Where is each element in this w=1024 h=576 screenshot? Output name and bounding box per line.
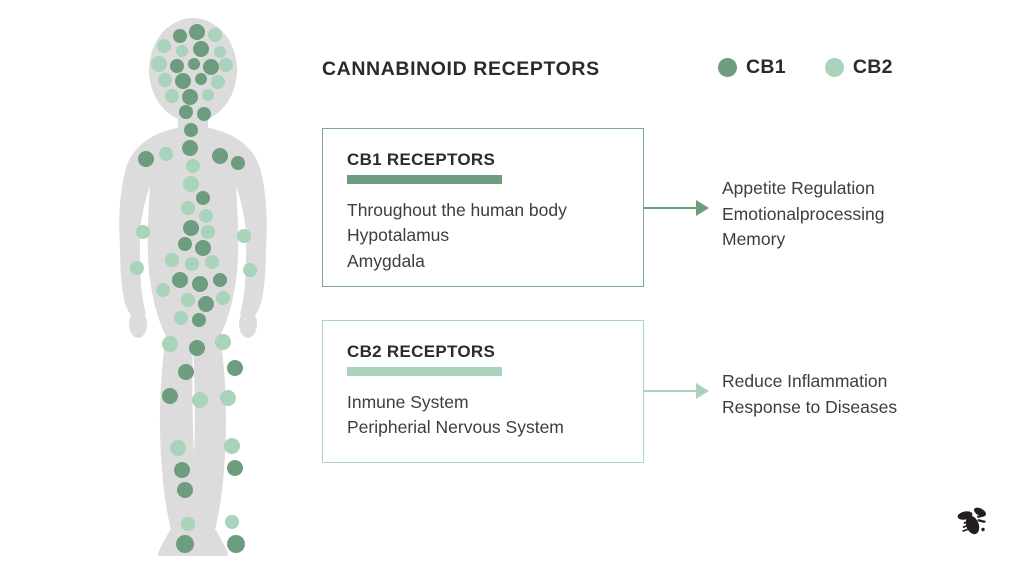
receptor-dot-cb1 (182, 140, 198, 156)
receptor-dot-cb1 (195, 240, 211, 256)
receptor-dot-cb2 (216, 291, 230, 305)
receptor-dot-cb2 (170, 440, 186, 456)
receptor-dot-cb1 (177, 482, 193, 498)
receptor-dot-cb1 (178, 237, 192, 251)
receptor-dot-cb2 (158, 73, 172, 87)
card-cb2-heading: CB2 RECEPTORS (347, 342, 643, 362)
receptor-dot-cb2 (185, 257, 199, 271)
receptor-dot-cb1 (195, 73, 207, 85)
receptor-dot-cb2 (181, 201, 195, 215)
receptor-dot-cb1 (198, 296, 214, 312)
receptor-dot-cb2 (192, 392, 208, 408)
receptor-dot-cb2 (165, 89, 179, 103)
arrow-head-icon (696, 200, 709, 216)
receptor-dot-cb2 (205, 255, 219, 269)
card-cb2-underline (347, 367, 502, 376)
receptor-dot-cb1 (184, 123, 198, 137)
receptor-dot-cb1 (179, 105, 193, 119)
outcome-cb1-line-3: Memory (722, 227, 884, 253)
outcome-cb2-line-2: Response to Diseases (722, 395, 897, 421)
card-cb1-receptors: CB1 RECEPTORS Throughout the human body … (322, 128, 644, 287)
receptor-dot-cb2 (181, 293, 195, 307)
receptor-dot-cb1 (213, 273, 227, 287)
receptor-dot-cb1 (196, 191, 210, 205)
receptor-dot-cb1 (176, 535, 194, 553)
receptor-dot-cb1 (227, 360, 243, 376)
filled-circle-icon (718, 58, 737, 77)
receptor-dot-cb1 (183, 220, 199, 236)
receptor-dot-cb1 (203, 59, 219, 75)
card-cb1-body: CB1 RECEPTORS Throughout the human body … (323, 129, 643, 275)
receptor-dot-cb2 (151, 56, 167, 72)
receptor-dot-cb1 (197, 107, 211, 121)
arrow-head-icon (696, 383, 709, 399)
receptor-dot-cb1 (173, 29, 187, 43)
receptor-dot-cb2 (159, 147, 173, 161)
card-cb2-line-1: Inmune System (347, 390, 643, 416)
receptor-dot-cb1 (174, 462, 190, 478)
receptor-dot-cb2 (199, 209, 213, 223)
connector-arrow-cb2 (644, 382, 709, 400)
receptor-dot-cb2 (220, 390, 236, 406)
receptor-dot-cb2 (211, 75, 225, 89)
receptor-dot-cb2 (183, 176, 199, 192)
receptor-dot-cb1 (162, 388, 178, 404)
card-cb2-receptors: CB2 RECEPTORS Inmune System Peripherial … (322, 320, 644, 463)
receptor-dot-cb1 (138, 151, 154, 167)
receptor-dot-cb2 (130, 261, 144, 275)
body-diagram (60, 18, 300, 563)
receptor-dot-cb1 (188, 58, 200, 70)
outcome-cb2-line-1: Reduce Inflammation (722, 369, 897, 395)
card-cb1-underline (347, 175, 502, 184)
receptor-dot-cb2 (165, 253, 179, 267)
receptor-dot-cb2 (136, 225, 150, 239)
receptor-dot-cb1 (189, 24, 205, 40)
legend-label-cb1: CB1 (746, 56, 786, 79)
receptor-dot-cb1 (178, 364, 194, 380)
card-cb1-lines: Throughout the human body Hypotalamus Am… (347, 198, 643, 275)
arrow-shaft (644, 207, 696, 209)
receptor-dot-cb2 (202, 89, 214, 101)
filled-circle-icon (825, 58, 844, 77)
connector-arrow-cb1 (644, 199, 709, 217)
receptor-dot-cb1 (182, 89, 198, 105)
receptor-dot-cb1 (227, 535, 245, 553)
legend-item-cb2: CB2 (825, 56, 893, 79)
outcome-cb1-line-1: Appetite Regulation (722, 176, 884, 202)
receptor-dot-cb2 (243, 263, 257, 277)
outcomes-cb1: Appetite Regulation Emotionalprocessing … (722, 176, 884, 253)
receptor-dot-cb1 (192, 313, 206, 327)
receptor-dot-cb2 (208, 28, 222, 42)
receptor-dot-cb2 (214, 46, 226, 58)
receptor-dot-cb2 (174, 311, 188, 325)
receptor-dot-cb1 (231, 156, 245, 170)
card-cb1-line-2: Hypotalamus (347, 223, 643, 249)
legend-label-cb2: CB2 (853, 56, 893, 79)
card-cb2-body: CB2 RECEPTORS Inmune System Peripherial … (323, 321, 643, 441)
receptor-dot-cb1 (170, 59, 184, 73)
receptor-dot-cb1 (193, 41, 209, 57)
receptor-dot-cb2 (219, 58, 233, 72)
receptor-dot-cb2 (176, 45, 188, 57)
card-cb1-line-1: Throughout the human body (347, 198, 643, 224)
page-title: CANNABINOID RECEPTORS (322, 58, 600, 81)
card-cb2-line-2: Peripherial Nervous System (347, 415, 643, 441)
card-cb2-lines: Inmune System Peripherial Nervous System (347, 390, 643, 441)
arrow-shaft (644, 390, 696, 392)
receptor-dot-cb2 (156, 283, 170, 297)
receptor-dot-cb2 (225, 515, 239, 529)
card-cb1-line-3: Amygdala (347, 249, 643, 275)
receptor-dot-cb2 (201, 225, 215, 239)
card-cb1-heading: CB1 RECEPTORS (347, 150, 643, 170)
receptor-dot-cb2 (162, 336, 178, 352)
bee-logo (950, 500, 994, 544)
receptor-dot-cb1 (175, 73, 191, 89)
infographic-canvas: CANNABINOID RECEPTORS CB1 CB2 CB1 RECEPT… (0, 0, 1024, 576)
receptor-dot-cb2 (181, 517, 195, 531)
legend-item-cb1: CB1 (718, 56, 786, 79)
receptor-dot-cb1 (227, 460, 243, 476)
receptor-dot-cb1 (189, 340, 205, 356)
receptor-dot-cb1 (212, 148, 228, 164)
receptor-dot-cb1 (172, 272, 188, 288)
outcome-cb1-line-2: Emotionalprocessing (722, 202, 884, 228)
receptor-dot-cb2 (237, 229, 251, 243)
receptor-dot-cb2 (215, 334, 231, 350)
outcomes-cb2: Reduce Inflammation Response to Diseases (722, 369, 897, 420)
legend: CB1 CB2 (718, 56, 893, 79)
receptor-dot-cb2 (157, 39, 171, 53)
receptor-dot-cb2 (224, 438, 240, 454)
receptor-dot-cb1 (192, 276, 208, 292)
receptor-dot-cb2 (186, 159, 200, 173)
